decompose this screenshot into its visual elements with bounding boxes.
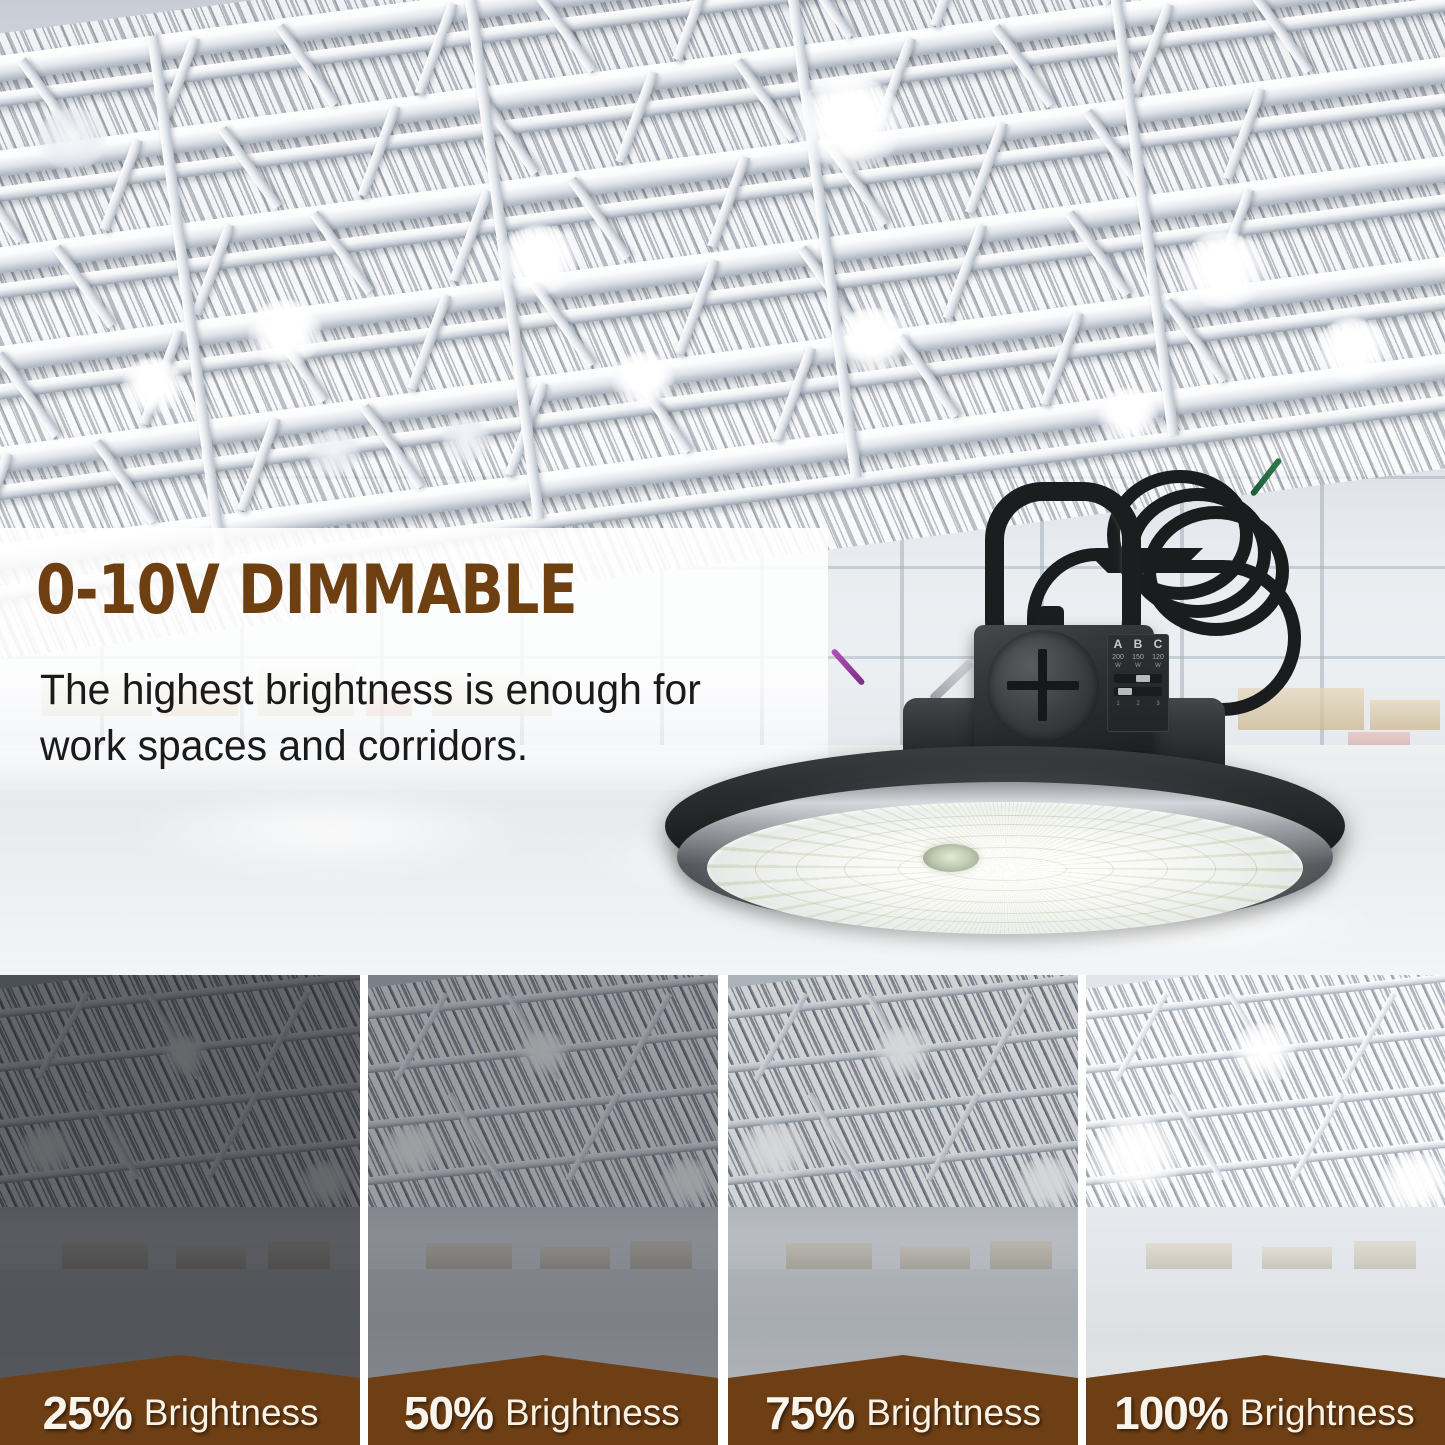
brightness-label-75: 75% Brightness (723, 1380, 1084, 1445)
ceiling-lamp-glow (248, 300, 322, 366)
label-unit-c: W (1155, 662, 1161, 670)
label-foot-2: 2 (1136, 700, 1139, 708)
ceiling-lamp-glow (122, 358, 184, 414)
brightness-label-50: 50% Brightness (361, 1380, 722, 1445)
ceiling-lamp-glow (1180, 232, 1266, 308)
ufo-led-high-bay-light: A B C 200 150 120 W W W 1 2 3 (655, 430, 1355, 950)
label-watt-c: 120 (1152, 653, 1164, 662)
label-unit-a: W (1115, 662, 1121, 670)
brightness-percent-75: 75% (765, 1386, 854, 1440)
product-marketing-image: 0-10V DIMMABLE The highest brightness is… (0, 0, 1445, 1445)
brightness-labels: 25% Brightness 50% Brightness 75% Bright… (0, 1380, 1445, 1445)
brightness-percent-25: 25% (43, 1386, 132, 1440)
label-switch-a: A (1114, 638, 1123, 651)
label-foot-1: 1 (1116, 700, 1119, 708)
lens-center-hub (923, 844, 979, 872)
brightness-percent-50: 50% (404, 1386, 493, 1440)
brightness-word-100: Brightness (1240, 1392, 1415, 1434)
wattage-selector-label: A B C 200 150 120 W W W 1 2 3 (1107, 634, 1169, 732)
ceiling-lamp-glow (836, 308, 908, 372)
label-switch-c: C (1154, 638, 1163, 651)
dip-switch-row-1 (1114, 674, 1162, 683)
ceiling-lamp-glow (1316, 318, 1388, 382)
wire-tip-silver (929, 659, 974, 703)
brightness-word-50: Brightness (505, 1392, 680, 1434)
dip-switch-row-2 (1114, 687, 1162, 696)
ceiling-lamp-glow (38, 108, 106, 170)
brightness-word-75: Brightness (866, 1392, 1041, 1434)
label-watt-b: 150 (1132, 653, 1144, 662)
ceiling-lamp-glow (500, 225, 578, 295)
brightness-label-100: 100% Brightness (1084, 1380, 1445, 1445)
label-unit-b: W (1135, 662, 1141, 670)
ceiling-lamp-glow (442, 418, 490, 462)
ceiling-lamp-glow (612, 352, 674, 408)
label-watt-a: 200 (1112, 653, 1124, 662)
label-foot-3: 3 (1156, 700, 1159, 708)
ceiling-lamp-glow (795, 75, 903, 171)
cross-vent-icon (1038, 649, 1047, 721)
brightness-label-25: 25% Brightness (0, 1380, 361, 1445)
page-headline: 0-10V DIMMABLE (36, 555, 577, 627)
led-lens-array (707, 802, 1303, 934)
wire-tip-green (1249, 457, 1282, 497)
ceiling-lamp-glow (308, 430, 360, 476)
wire-tip-purple (830, 648, 865, 686)
brightness-word-25: Brightness (144, 1392, 319, 1434)
brightness-percent-100: 100% (1114, 1386, 1228, 1440)
label-switch-b: B (1134, 638, 1143, 651)
